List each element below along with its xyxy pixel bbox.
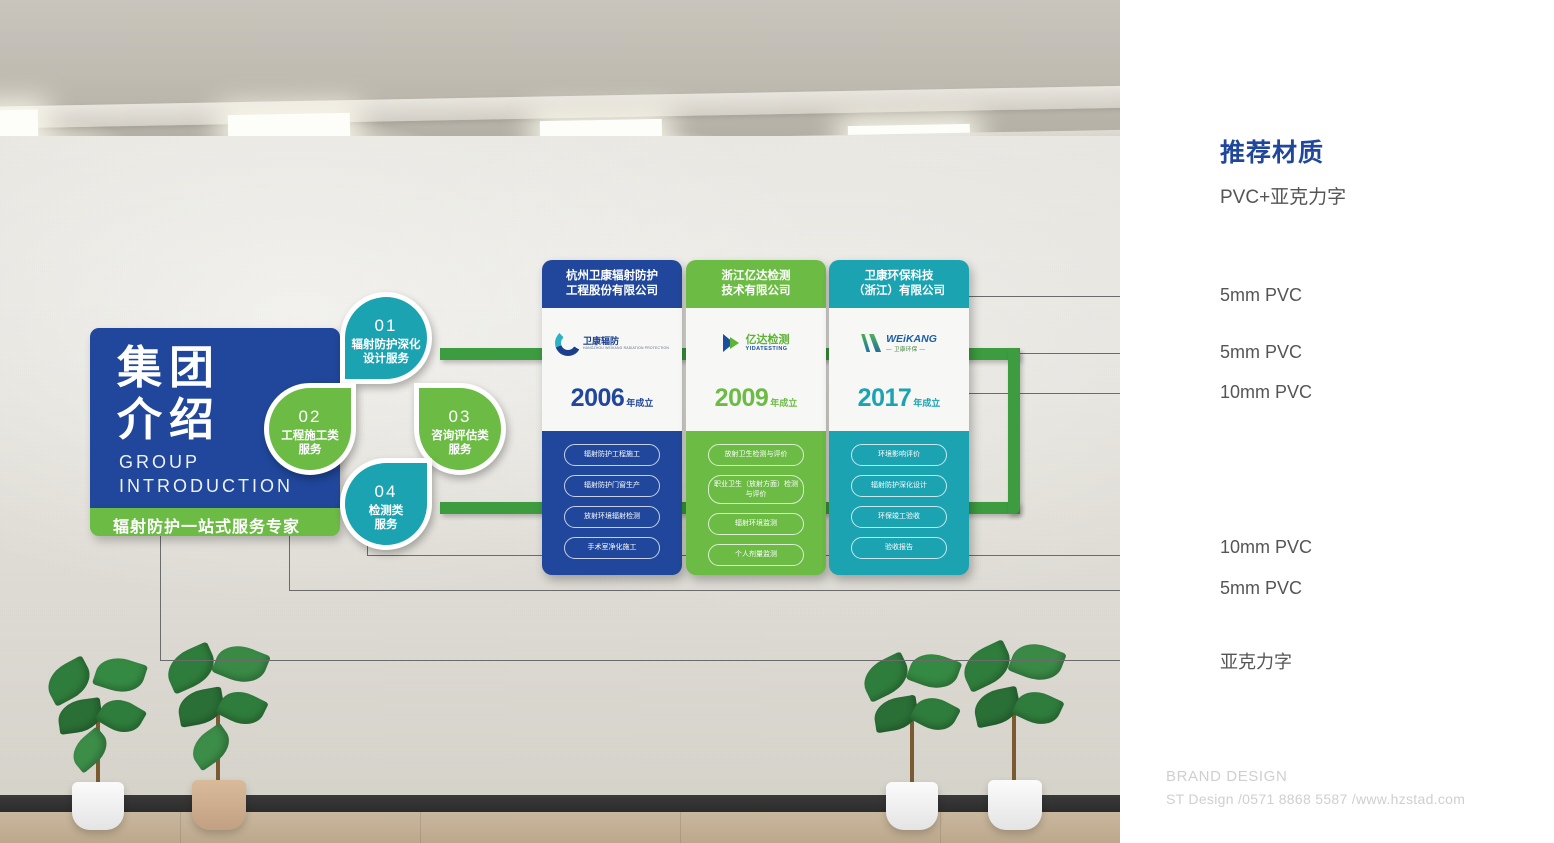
service-pill-list: 辐射防护工程施工 辐射防护门窗生产 放射环境辐射检测 手术室净化施工: [542, 431, 682, 559]
material-label-1: 5mm PVC: [1220, 285, 1302, 306]
year-suffix: 年成立: [913, 398, 940, 408]
petal-label-2: 服务: [375, 518, 398, 532]
spec-subtitle: PVC+亚克力字: [1220, 182, 1346, 209]
page-title-cn-2: 介绍: [117, 394, 221, 445]
company-name-line2: 技术有限公司: [722, 285, 791, 297]
card-header: 浙江亿达检测 技术有限公司: [686, 260, 826, 308]
company-card-1[interactable]: 杭州卫康辐射防护 工程股份有限公司 卫康辐防 HANGZHOU WEIKANG …: [542, 260, 682, 575]
service-pill[interactable]: 职业卫生（放射方面）检测与评价: [708, 475, 804, 504]
material-label-5: 5mm PVC: [1220, 578, 1302, 599]
service-pill[interactable]: 辐射环境监测: [708, 513, 804, 535]
petal-label-2: 设计服务: [363, 352, 409, 366]
company-card-3[interactable]: 卫康环保科技 （浙江）有限公司 WEiKANG — 卫康环保 — 2017年成立: [829, 260, 969, 575]
material-spec-panel: 推荐材质 PVC+亚克力字 5mm PVC 5mm PVC 10mm PVC 1…: [1120, 0, 1554, 843]
service-pill[interactable]: 环保竣工验收: [851, 506, 947, 528]
company-name-line1: 卫康环保科技: [865, 270, 934, 282]
year-number: 2009: [715, 384, 769, 412]
year-suffix: 年成立: [626, 398, 653, 408]
founding-year-1: 2006年成立: [542, 384, 682, 413]
card-header: 卫康环保科技 （浙江）有限公司: [829, 260, 969, 308]
arrow-icon: [723, 333, 743, 353]
logo-text: 卫康辐防: [583, 336, 669, 346]
company-name-line2: 工程股份有限公司: [566, 285, 658, 297]
petal-number: 04: [375, 482, 398, 502]
service-pill-list: 放射卫生检测与评价 职业卫生（放射方面）检测与评价 辐射环境监测 个人剂量监测: [686, 431, 826, 566]
leader-line-6: [160, 660, 1215, 661]
w-mark-icon: [861, 332, 883, 354]
material-label-2: 5mm PVC: [1220, 342, 1302, 363]
service-pill[interactable]: 验收报告: [851, 537, 947, 559]
connector-bar-right: [1008, 348, 1020, 514]
service-petal-04[interactable]: 04 检测类 服务: [340, 458, 432, 550]
material-label-3: 10mm PVC: [1220, 382, 1312, 403]
petal-label-1: 检测类: [369, 504, 404, 518]
footer-contact: ST Design /0571 8868 5587 /www.hzstad.co…: [1166, 791, 1465, 807]
year-suffix: 年成立: [770, 398, 797, 408]
page-title-en-1: GROUP: [119, 452, 200, 473]
company-logo-2: 亿达检测 YIDATESTING: [686, 320, 826, 366]
service-pill[interactable]: 辐射防护深化设计: [851, 475, 947, 497]
year-number: 2017: [858, 384, 912, 412]
company-name-line1: 浙江亿达检测: [722, 270, 791, 282]
wall-graphic: 集团 介绍 GROUP INTRODUCTION 辐射防护一站式服务专家 01 …: [0, 0, 1120, 843]
logo-text: 亿达检测: [746, 335, 790, 346]
founding-year-3: 2017年成立: [829, 384, 969, 413]
mockup-stage: 集团 介绍 GROUP INTRODUCTION 辐射防护一站式服务专家 01 …: [0, 0, 1554, 843]
petal-number: 03: [449, 407, 472, 427]
card-logo-area: 卫康辐防 HANGZHOU WEIKANG RADIATION PROTECTI…: [542, 308, 682, 431]
material-label-6: 亚克力字: [1220, 648, 1292, 674]
logo-text: WEiKANG: [886, 334, 937, 345]
service-pill[interactable]: 环境影响评价: [851, 444, 947, 466]
spec-title: 推荐材质: [1220, 133, 1324, 169]
petal-number: 02: [299, 407, 322, 427]
service-pill[interactable]: 个人剂量监测: [708, 544, 804, 566]
company-logo-3: WEiKANG — 卫康环保 —: [829, 320, 969, 366]
tagline-banner: 辐射防护一站式服务专家: [90, 508, 340, 536]
service-petal-01[interactable]: 01 辐射防护深化 设计服务: [340, 292, 432, 384]
footer-brand: BRAND DESIGN: [1166, 768, 1287, 785]
year-number: 2006: [571, 384, 625, 412]
card-logo-area: WEiKANG — 卫康环保 — 2017年成立: [829, 308, 969, 431]
service-pill[interactable]: 手术室净化施工: [564, 537, 660, 559]
service-pill[interactable]: 放射卫生检测与评价: [708, 444, 804, 466]
logo-subtext: — 卫康环保 —: [886, 345, 937, 353]
page-title-en-2: INTRODUCTION: [119, 476, 293, 497]
arc-icon: [555, 330, 581, 356]
company-logo-1: 卫康辐防 HANGZHOU WEIKANG RADIATION PROTECTI…: [542, 320, 682, 366]
service-pill-list: 环境影响评价 辐射防护深化设计 环保竣工验收 验收报告: [829, 431, 969, 559]
petal-number: 01: [375, 316, 398, 336]
tagline-text: 辐射防护一站式服务专家: [113, 513, 300, 537]
petal-label-2: 服务: [449, 443, 472, 457]
service-pill[interactable]: 放射环境辐射检测: [564, 506, 660, 528]
company-name-line1: 杭州卫康辐射防护: [566, 270, 658, 282]
petal-label-1: 工程施工类: [281, 429, 339, 443]
petal-label-1: 咨询评估类: [431, 429, 489, 443]
petal-label-1: 辐射防护深化: [352, 338, 421, 352]
service-pill[interactable]: 辐射防护工程施工: [564, 444, 660, 466]
card-logo-area: 亿达检测 YIDATESTING 2009年成立: [686, 308, 826, 431]
logo-subtext: YIDATESTING: [746, 346, 790, 352]
service-pill[interactable]: 辐射防护门窗生产: [564, 475, 660, 497]
company-card-2[interactable]: 浙江亿达检测 技术有限公司 亿达检测 YIDATESTING 2009年成立: [686, 260, 826, 575]
page-title-cn-1: 集团: [117, 342, 221, 393]
petal-label-2: 服务: [299, 443, 322, 457]
company-name-line2: （浙江）有限公司: [853, 285, 945, 297]
founding-year-2: 2009年成立: [686, 384, 826, 413]
material-label-4: 10mm PVC: [1220, 537, 1312, 558]
leader-line-5: [289, 590, 1215, 591]
card-header: 杭州卫康辐射防护 工程股份有限公司: [542, 260, 682, 308]
logo-subtext: HANGZHOU WEIKANG RADIATION PROTECTION: [583, 346, 669, 350]
service-petal-02[interactable]: 02 工程施工类 服务: [264, 383, 356, 475]
